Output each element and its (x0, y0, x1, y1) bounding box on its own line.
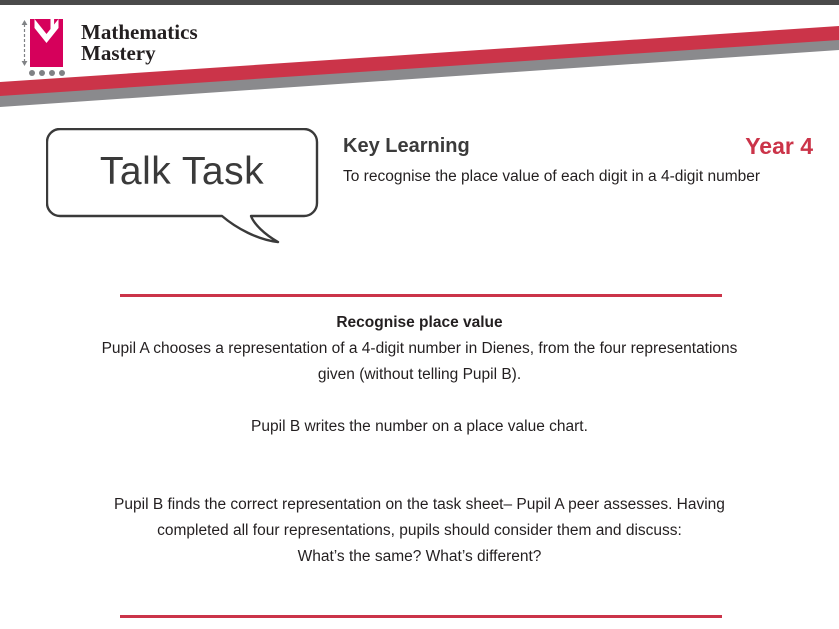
task-paragraph-3-line-1: Pupil B finds the correct representation… (30, 492, 809, 518)
divider-rule-top (120, 294, 722, 297)
talk-task-label: Talk Task (46, 128, 318, 216)
year-badge: Year 4 (745, 134, 813, 158)
logo-dot (39, 70, 45, 76)
divider-rule-bottom (120, 615, 722, 618)
talk-task-bubble: Talk Task (46, 128, 326, 250)
task-paragraph-1-line-2: given (without telling Pupil B). (30, 362, 809, 388)
measure-arrow-icon (21, 20, 28, 66)
task-heading: Recognise place value (30, 310, 809, 336)
task-paragraph-3-line-2: completed all four representations, pupi… (30, 518, 809, 544)
spacer (30, 388, 809, 414)
brand-wordmark: Mathematics Mastery (81, 18, 198, 64)
task-body: Recognise place value Pupil A chooses a … (30, 310, 809, 570)
wordmark-line-2: Mastery (81, 43, 198, 64)
m-monogram-icon (30, 19, 63, 67)
key-learning-block: Key Learning To recognise the place valu… (343, 134, 813, 188)
mathematics-mastery-m-logo-icon (19, 18, 69, 78)
page-header: Mathematics Mastery (0, 5, 839, 110)
logo-dot (59, 70, 65, 76)
key-learning-objective: To recognise the place value of each dig… (343, 166, 783, 188)
brand-logo: Mathematics Mastery (19, 18, 198, 78)
wordmark-line-1: Mathematics (81, 22, 198, 43)
task-paragraph-3-line-3: What’s the same? What’s different? (30, 544, 809, 570)
spacer (30, 466, 809, 492)
spacer (30, 440, 809, 466)
key-learning-title: Key Learning (343, 134, 813, 158)
logo-dots (29, 70, 65, 76)
logo-dot (49, 70, 55, 76)
task-paragraph-2: Pupil B writes the number on a place val… (30, 414, 809, 440)
logo-dot (29, 70, 35, 76)
task-paragraph-1-line-1: Pupil A chooses a representation of a 4-… (30, 336, 809, 362)
